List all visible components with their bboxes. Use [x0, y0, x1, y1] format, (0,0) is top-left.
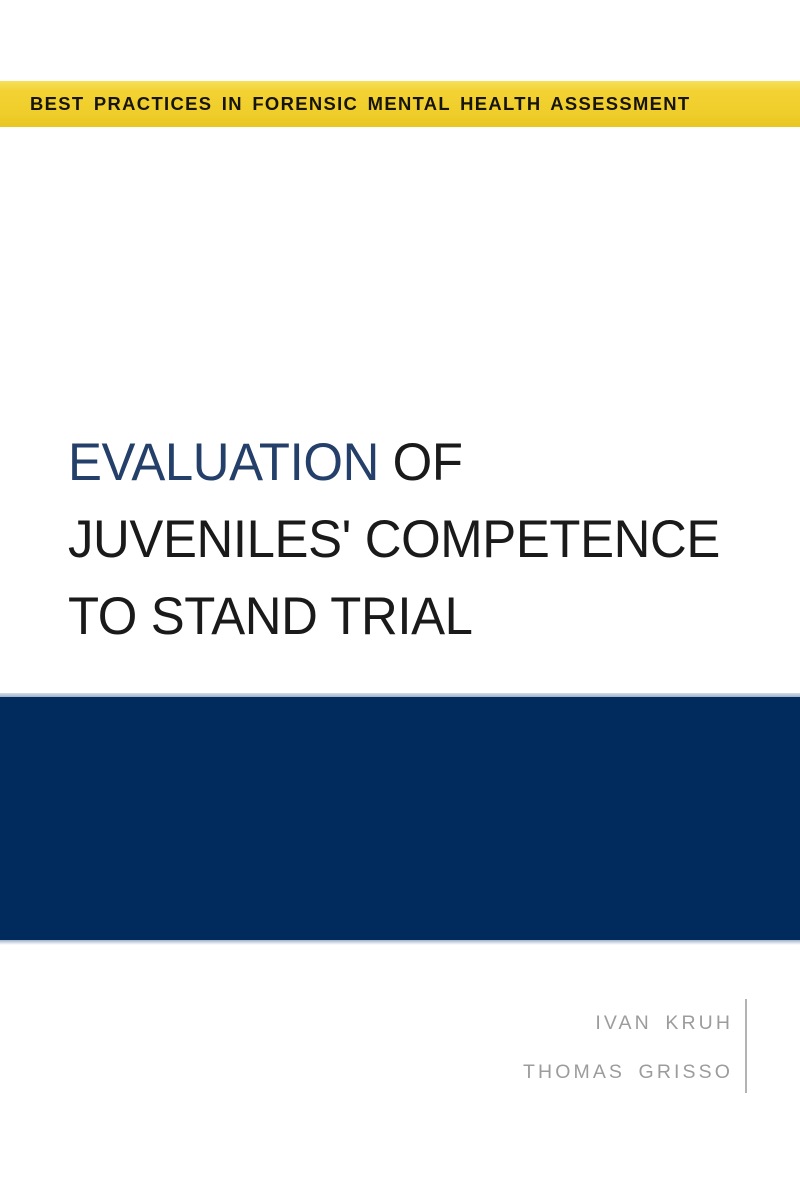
navy-color-block	[0, 697, 800, 940]
author-name-second: THOMAS GRISSO	[523, 1048, 733, 1097]
title-line-1: EVALUATION OF	[68, 424, 740, 501]
title-line-3: TO STAND TRIAL	[68, 578, 740, 655]
title-line-1-rest: OF	[379, 433, 463, 492]
title-line-2: JUVENILES' COMPETENCE	[68, 501, 740, 578]
book-title: EVALUATION OF JUVENILES' COMPETENCE TO S…	[68, 424, 768, 655]
author-list: IVAN KRUH THOMAS GRISSO	[523, 999, 733, 1097]
title-accent-word: EVALUATION	[68, 433, 379, 492]
book-cover: BEST PRACTICES IN FORENSIC MENTAL HEALTH…	[0, 0, 800, 1203]
author-name-first: IVAN KRUH	[523, 999, 733, 1048]
series-banner-label: BEST PRACTICES IN FORENSIC MENTAL HEALTH…	[30, 93, 690, 115]
author-vertical-rule	[745, 999, 747, 1093]
series-banner: BEST PRACTICES IN FORENSIC MENTAL HEALTH…	[0, 81, 800, 127]
